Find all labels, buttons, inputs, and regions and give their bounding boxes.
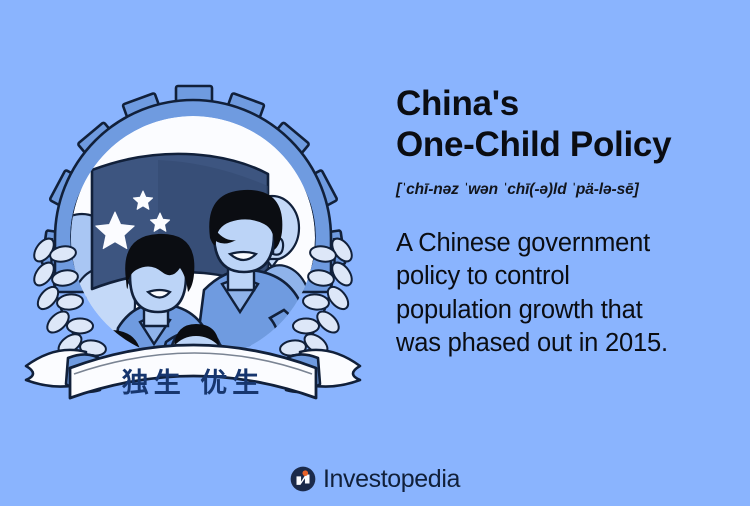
definition-text-column: China's One-Child Policy [ˈchī-nəz ˈwən … (396, 84, 740, 360)
definition-text: A Chinese government policy to control p… (396, 227, 740, 361)
definition-line-2: policy to control (396, 260, 740, 293)
investopedia-wordmark: Investopedia (323, 467, 460, 492)
definition-line-1: A Chinese government (396, 227, 740, 260)
pronunciation-text: [ˈchī-nəz ˈwən ˈchī(-ə)ld ˈpä-lə-sē] (396, 181, 740, 199)
definition-line-4: was phased out in 2015. (396, 327, 740, 360)
title-line-1: China's (396, 84, 740, 125)
investopedia-logo: Investopedia (0, 466, 750, 492)
infographic-card: 独生 优生 China's One-Child Policy [ˈchī-nəz… (0, 0, 750, 506)
title-line-2: One-Child Policy (396, 125, 740, 166)
investopedia-mark-icon (290, 466, 316, 492)
page-title: China's One-Child Policy (396, 84, 740, 166)
banner-text: 独生 优生 (122, 368, 264, 399)
one-child-policy-emblem-illustration: 独生 优生 (8, 78, 378, 418)
definition-line-3: population growth that (396, 294, 740, 327)
